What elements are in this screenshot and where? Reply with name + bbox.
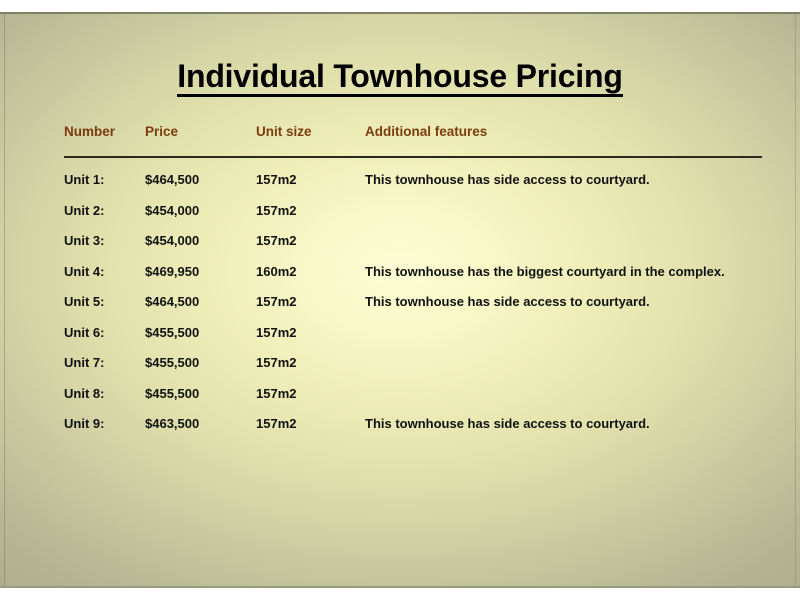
left-edge-line xyxy=(4,14,5,588)
table-row: Unit 1: $464,500 157m2 This townhouse ha… xyxy=(64,172,764,203)
table-row: Unit 4: $469,950 160m2 This townhouse ha… xyxy=(64,264,764,295)
pricing-table: Number Price Unit size Additional featur… xyxy=(64,124,764,447)
table-row: Unit 8: $455,500 157m2 xyxy=(64,386,764,417)
cell-price: $454,000 xyxy=(145,233,256,248)
cell-features: This townhouse has the biggest courtyard… xyxy=(365,264,764,279)
cell-unit-size: 160m2 xyxy=(256,264,365,279)
cell-unit-size: 157m2 xyxy=(256,355,365,370)
cell-number: Unit 2: xyxy=(64,203,145,218)
table-row: Unit 7: $455,500 157m2 xyxy=(64,355,764,386)
table-header-row: Number Price Unit size Additional featur… xyxy=(64,124,764,146)
table-body: Unit 1: $464,500 157m2 This townhouse ha… xyxy=(64,172,764,447)
cell-price: $464,500 xyxy=(145,172,256,187)
cell-unit-size: 157m2 xyxy=(256,294,365,309)
page-title-text: Individual Townhouse Pricing xyxy=(177,60,622,97)
cell-number: Unit 6: xyxy=(64,325,145,340)
cell-number: Unit 1: xyxy=(64,172,145,187)
right-edge-line xyxy=(795,14,796,588)
cell-price: $464,500 xyxy=(145,294,256,309)
cell-price: $455,500 xyxy=(145,325,256,340)
cell-number: Unit 9: xyxy=(64,416,145,431)
table-row: Unit 5: $464,500 157m2 This townhouse ha… xyxy=(64,294,764,325)
cell-number: Unit 3: xyxy=(64,233,145,248)
cell-features: This townhouse has side access to courty… xyxy=(365,294,764,309)
cell-unit-size: 157m2 xyxy=(256,325,365,340)
cell-price: $454,000 xyxy=(145,203,256,218)
cell-price: $463,500 xyxy=(145,416,256,431)
cell-features: This townhouse has side access to courty… xyxy=(365,172,764,187)
cell-unit-size: 157m2 xyxy=(256,233,365,248)
cell-number: Unit 5: xyxy=(64,294,145,309)
slide-canvas: Individual Townhouse Pricing Number Pric… xyxy=(0,0,800,588)
table-row: Unit 2: $454,000 157m2 xyxy=(64,203,764,234)
cell-number: Unit 8: xyxy=(64,386,145,401)
cell-price: $455,500 xyxy=(145,386,256,401)
cell-number: Unit 7: xyxy=(64,355,145,370)
table-row: Unit 6: $455,500 157m2 xyxy=(64,325,764,356)
cell-unit-size: 157m2 xyxy=(256,203,365,218)
table-row: Unit 3: $454,000 157m2 xyxy=(64,233,764,264)
cell-unit-size: 157m2 xyxy=(256,416,365,431)
column-header-unit-size: Unit size xyxy=(256,124,365,139)
cell-unit-size: 157m2 xyxy=(256,386,365,401)
cell-number: Unit 4: xyxy=(64,264,145,279)
cell-unit-size: 157m2 xyxy=(256,172,365,187)
cell-price: $469,950 xyxy=(145,264,256,279)
cell-features: This townhouse has side access to courty… xyxy=(365,416,764,431)
table-row: Unit 9: $463,500 157m2 This townhouse ha… xyxy=(64,416,764,447)
page-title: Individual Townhouse Pricing xyxy=(0,60,800,97)
column-header-additional-features: Additional features xyxy=(365,124,764,139)
header-divider-rule xyxy=(64,156,762,158)
bottom-border-line xyxy=(0,586,800,588)
cell-price: $455,500 xyxy=(145,355,256,370)
top-border-line xyxy=(0,12,800,14)
top-white-margin xyxy=(0,0,800,12)
column-header-price: Price xyxy=(145,124,256,139)
column-header-number: Number xyxy=(64,124,145,139)
